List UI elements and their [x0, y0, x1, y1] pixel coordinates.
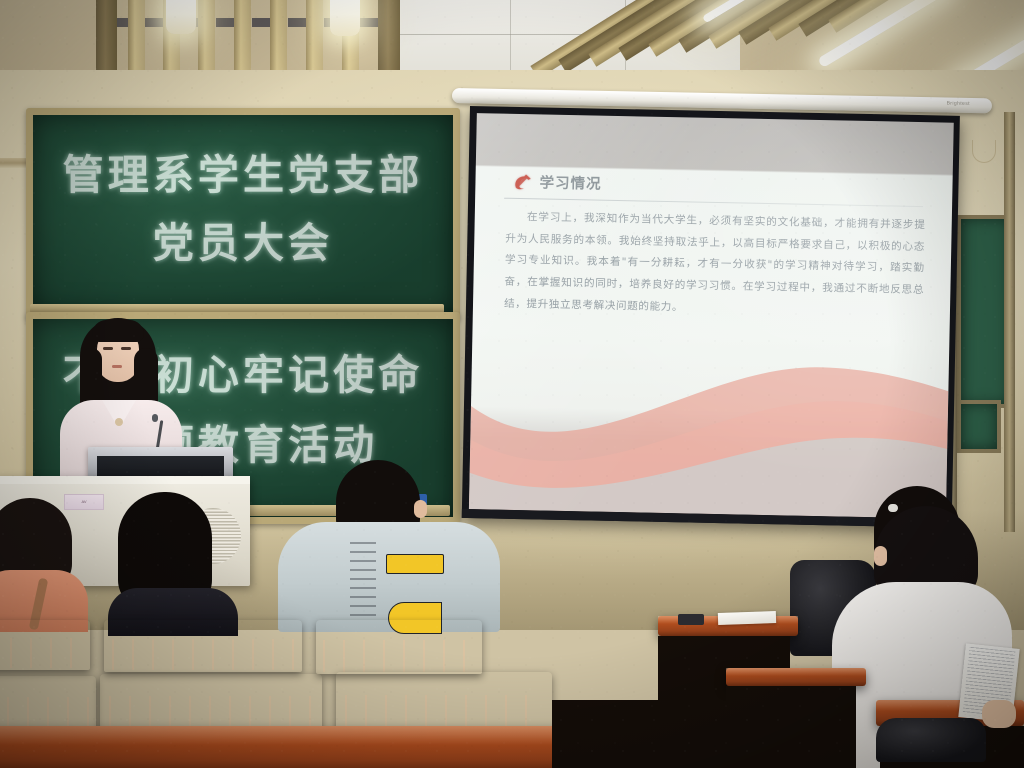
slide-title: 学习情况: [539, 172, 601, 194]
blackboard-upper-line2: 党员大会: [33, 209, 453, 269]
foreground-desk: [0, 726, 600, 768]
presenter-necklace: [115, 418, 123, 426]
sliding-chalkboard-panel-lower: [957, 400, 1001, 453]
presenter-eye-left: [103, 347, 113, 350]
attendee-center-ear: [414, 500, 427, 518]
roller-brand-label: Brightest: [947, 100, 970, 106]
ceiling-light-tube: [330, 0, 360, 36]
projection-screen: 学习情况 在学习上，我深知作为当代大学生，必须有坚实的文化基础，才能拥有并逐步提…: [462, 106, 960, 528]
slide-title-divider: [504, 198, 924, 207]
blackboard-upper: 管理系学生党支部 党员大会: [26, 108, 460, 320]
cpc-hammer-sickle-emblem: [513, 173, 532, 190]
bench-row1-seat2: [100, 674, 322, 734]
presenter-fringe: [92, 320, 144, 342]
classroom-photo: 管理系学生党支部 党员大会 不忘初心牢记使命 主题教育活动 Brightest: [0, 0, 1024, 768]
bench-row2-seat3: [316, 620, 482, 674]
paper-on-desk-back: [718, 611, 776, 625]
presenter-eye-right: [121, 347, 131, 350]
jacket-yellow-patch-top: [386, 554, 444, 574]
presentation-slide: 学习情况 在学习上，我深知作为当代大学生，必须有坚实的文化基础，才能拥有并逐步提…: [469, 113, 954, 518]
microphone-head: [152, 414, 158, 422]
jacket-print-text: [350, 542, 376, 616]
attendee-front-left-2: [108, 492, 236, 632]
wall-hook-wire: [972, 140, 996, 163]
presenter-mouth: [112, 365, 122, 368]
bench-row2-seat2: [104, 620, 302, 672]
attendee-front-left: [0, 498, 88, 630]
ceiling-light-tube: [166, 0, 196, 34]
board-track-rail-right: [1004, 112, 1015, 532]
attendee-center: [278, 460, 500, 632]
blackboard-upper-line1: 管理系学生党支部: [33, 141, 453, 201]
attendee-right-ear: [874, 546, 887, 566]
hand-holding-paper: [982, 700, 1016, 728]
slide-header: 学习情况: [513, 171, 601, 194]
desk-right-mid: [726, 668, 866, 686]
bench-row1-seat3: [336, 672, 552, 734]
device-on-desk: [678, 614, 704, 625]
bench-row2-seat1: [0, 620, 90, 670]
slide-body-text: 在学习上，我深知作为当代大学生，必须有坚实的文化基础，才能拥有并逐步提升为人民服…: [504, 207, 926, 324]
black-bag-front: [876, 718, 986, 762]
